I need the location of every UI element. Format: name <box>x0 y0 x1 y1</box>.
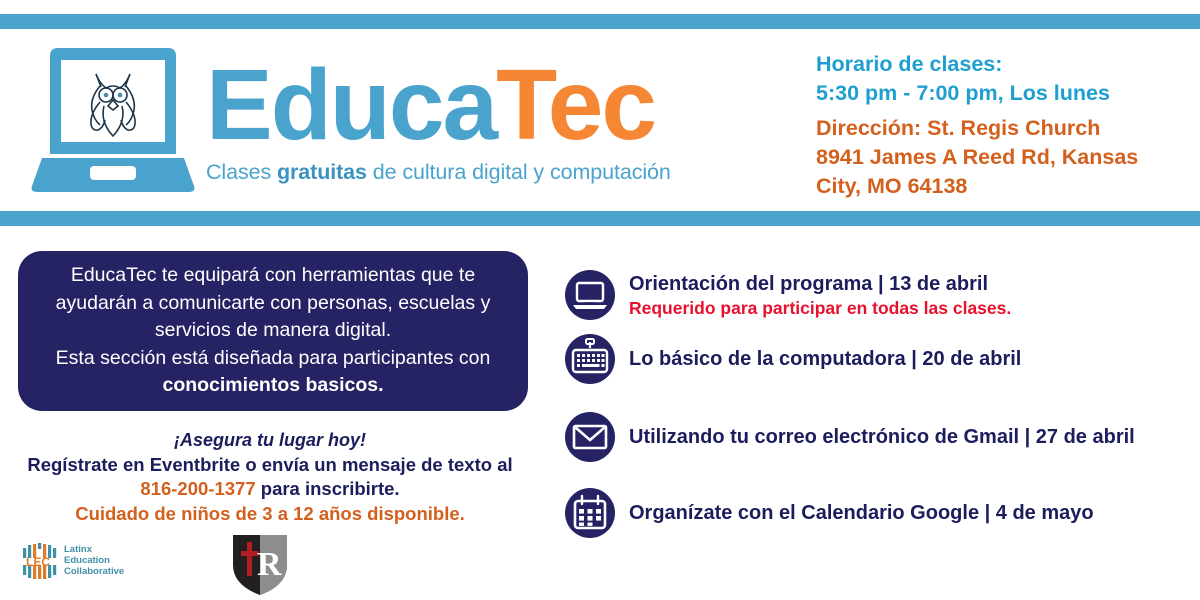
header-info-block: Horario de clases: 5:30 pm - 7:00 pm, Lo… <box>816 50 1196 201</box>
brand-name-tec: Tec <box>496 49 655 161</box>
class-title: Organízate con el Calendario Google | 4 … <box>629 501 1195 526</box>
tagline-pre: Clases <box>206 160 277 184</box>
class-item-text: Organízate con el Calendario Google | 4 … <box>629 501 1195 526</box>
program-description-box: EducaTec te equipará con herramientas qu… <box>18 251 528 411</box>
poster-canvas: EducaTec Clases gratuitas de cultura dig… <box>0 0 1200 600</box>
signup-phone-suffix: para inscribirte. <box>256 478 400 499</box>
brand-tagline: Clases gratuitas de cultura digital y co… <box>206 160 786 185</box>
laptop-icon <box>565 270 615 320</box>
brand-wordmark: EducaTec Clases gratuitas de cultura dig… <box>206 52 786 185</box>
lec-mark: LEC <box>26 555 50 569</box>
rockhurst-shield-logo: R <box>229 531 291 597</box>
class-item-orientation[interactable]: Orientación del programa | 13 de abril R… <box>565 268 1195 322</box>
program-description-text: EducaTec te equipará con herramientas qu… <box>56 262 491 400</box>
header: EducaTec Clases gratuitas de cultura dig… <box>0 36 1200 206</box>
class-item-text: Utilizando tu correo electrónico de Gmai… <box>629 425 1195 450</box>
address-line-2: 8941 James A Reed Rd, Kansas <box>816 143 1196 172</box>
tagline-bold: gratuitas <box>277 160 367 184</box>
svg-text:R: R <box>257 546 282 583</box>
brand-name: EducaTec <box>206 52 786 158</box>
class-schedule-list: Orientación del programa | 13 de abril R… <box>565 268 1195 556</box>
calendar-icon <box>565 488 615 538</box>
envelope-icon <box>565 412 615 462</box>
class-item-text: Lo básico de la computadora | 20 de abri… <box>629 347 1195 372</box>
brand-name-educa: Educa <box>206 49 496 161</box>
header-divider-bar <box>0 211 1200 226</box>
lec-logo: LEC Latinx Education Collaborative <box>12 538 142 584</box>
address-line-3: City, MO 64138 <box>816 172 1196 201</box>
signup-phone-line: 816-200-1377 para inscribirte. <box>10 477 530 502</box>
signup-headline: ¡Asegura tu lugar hoy! <box>10 428 530 453</box>
tagline-post: de cultura digital y computación <box>367 160 671 184</box>
description-line-1: EducaTec te equipará con herramientas qu… <box>71 264 475 286</box>
schedule-label: Horario de clases: <box>816 50 1196 79</box>
class-requirement-note: Requerido para participar en todas las c… <box>629 297 1195 319</box>
description-line-3: servicios de manera digital. <box>155 319 391 341</box>
schedule-time: 5:30 pm - 7:00 pm, Los lunes <box>816 79 1196 108</box>
signup-instructions: Regístrate en Eventbrite o envía un mens… <box>10 453 530 478</box>
class-title: Lo básico de la computadora | 20 de abri… <box>629 347 1195 372</box>
class-item-google-calendar[interactable]: Organízate con el Calendario Google | 4 … <box>565 486 1195 540</box>
description-line-4: Esta sección está diseñada para particip… <box>56 347 491 369</box>
class-item-text: Orientación del programa | 13 de abril R… <box>629 272 1195 319</box>
class-title: Orientación del programa | 13 de abril <box>629 272 1195 297</box>
class-item-gmail[interactable]: Utilizando tu correo electrónico de Gmai… <box>565 410 1195 464</box>
keyboard-icon <box>565 334 615 384</box>
svg-text:Latinx: Latinx <box>64 544 93 555</box>
description-line-5: conocimientos basicos. <box>162 374 383 396</box>
owl-laptop-logo-icon <box>28 46 198 198</box>
childcare-note: Cuidado de niños de 3 a 12 años disponib… <box>10 502 530 527</box>
description-line-2: ayudarán a comunicarte con personas, esc… <box>56 292 491 314</box>
signup-phone-number[interactable]: 816-200-1377 <box>140 478 255 499</box>
class-item-computer-basics[interactable]: Lo básico de la computadora | 20 de abri… <box>565 332 1195 386</box>
top-divider-bar <box>0 14 1200 29</box>
address-line-1: Dirección: St. Regis Church <box>816 114 1196 143</box>
svg-text:Collaborative: Collaborative <box>64 566 124 577</box>
signup-info: ¡Asegura tu lugar hoy! Regístrate en Eve… <box>10 428 530 526</box>
svg-text:Education: Education <box>64 555 110 566</box>
class-title: Utilizando tu correo electrónico de Gmai… <box>629 425 1195 450</box>
